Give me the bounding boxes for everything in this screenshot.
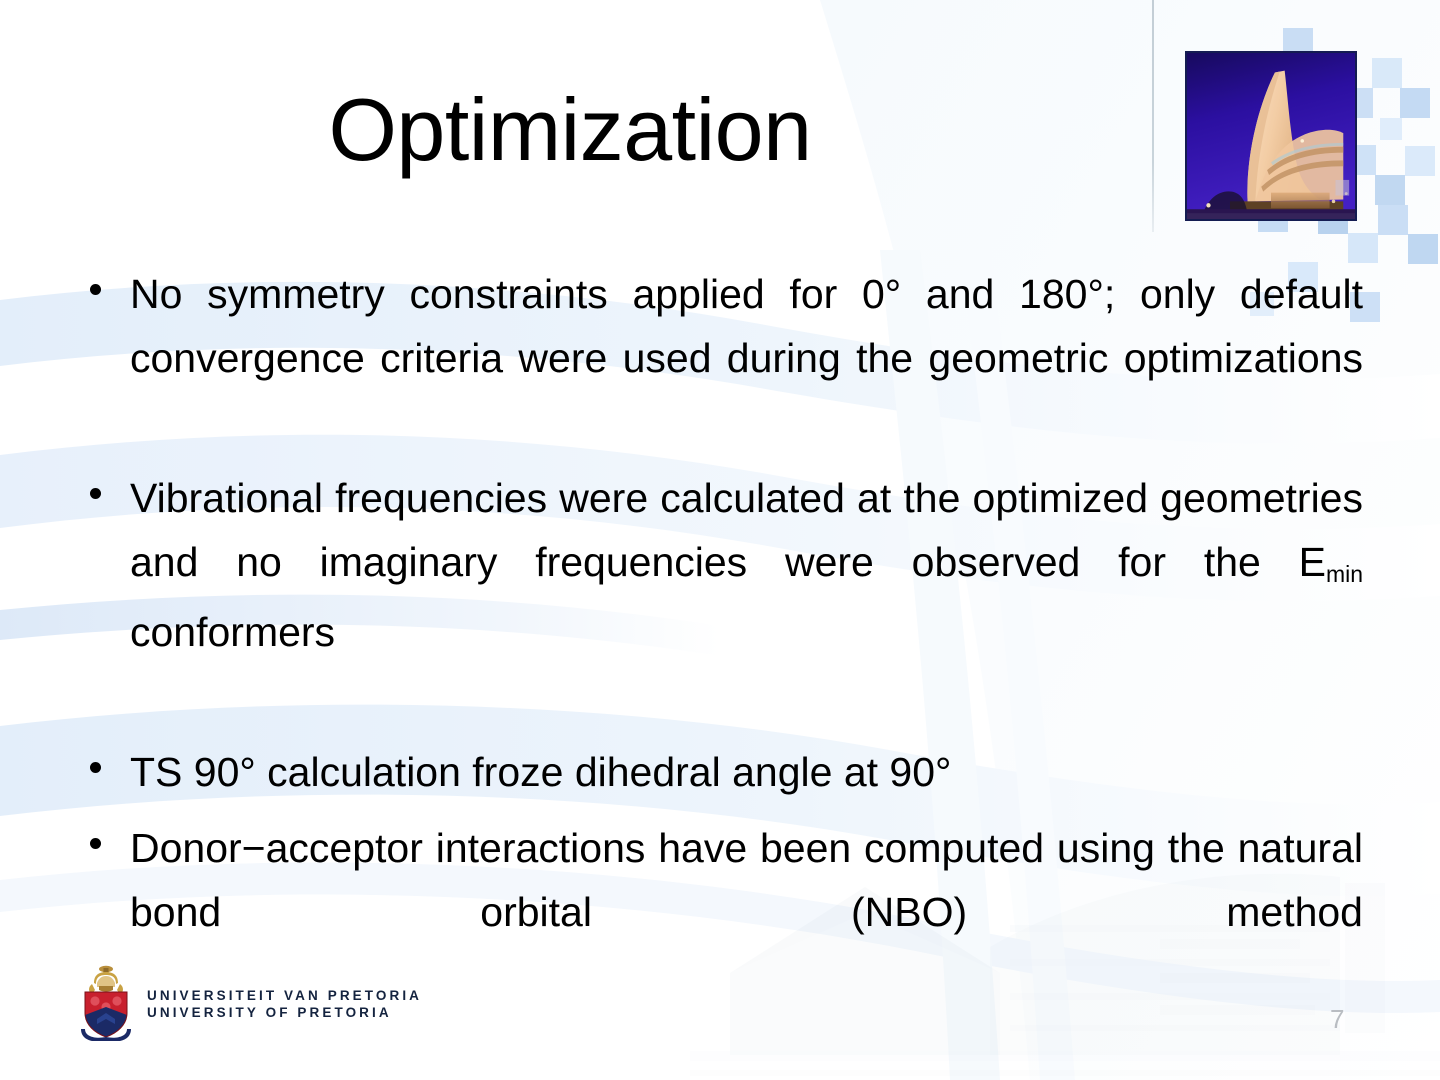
bullet-text-frequencies-part1: Vibrational frequencies were calculated … — [130, 475, 1363, 585]
bullet-text-frequencies-part2: conformers — [130, 609, 335, 655]
wordmark-line-english: UNIVERSITY OF PRETORIA — [147, 1004, 422, 1021]
slide-title: Optimization — [0, 86, 1440, 174]
university-wordmark: UNIVERSITEIT VAN PRETORIA UNIVERSITY OF … — [147, 987, 422, 1021]
bullet-dot-icon — [90, 488, 101, 499]
bullet-text-symmetry: No symmetry constraints applied for 0° a… — [130, 262, 1363, 454]
wordmark-line-afrikaans: UNIVERSITEIT VAN PRETORIA — [147, 987, 422, 1004]
decorative-square-icon — [1378, 205, 1408, 235]
university-logo: UNIVERSITEIT VAN PRETORIA UNIVERSITY OF … — [75, 963, 375, 1043]
bullet-text-frequencies: Vibrational frequencies were calculated … — [130, 466, 1363, 728]
bullet-dot-icon — [90, 838, 101, 849]
decorative-square-icon — [1348, 233, 1378, 263]
presentation-slide: Optimization No symmetry constraints app… — [0, 0, 1440, 1080]
bullet-item-symmetry: No symmetry constraints applied for 0° a… — [78, 262, 1363, 454]
decorative-square-icon — [1408, 234, 1438, 264]
bullet-list: No symmetry constraints applied for 0° a… — [78, 262, 1363, 1008]
bullet-item-frequencies: Vibrational frequencies were calculated … — [78, 466, 1363, 728]
university-of-pretoria-crest-icon — [75, 963, 137, 1041]
decorative-square-icon — [1372, 58, 1402, 88]
emin-subscript: min — [1326, 561, 1363, 587]
bullet-item-ts90: TS 90° calculation froze dihedral angle … — [78, 740, 1363, 804]
bullet-dot-icon — [90, 284, 101, 295]
decorative-square-icon — [1375, 175, 1405, 205]
bullet-text-ts90: TS 90° calculation froze dihedral angle … — [130, 740, 1363, 804]
page-number: 7 — [1330, 1004, 1344, 1035]
bullet-dot-icon — [90, 762, 101, 773]
